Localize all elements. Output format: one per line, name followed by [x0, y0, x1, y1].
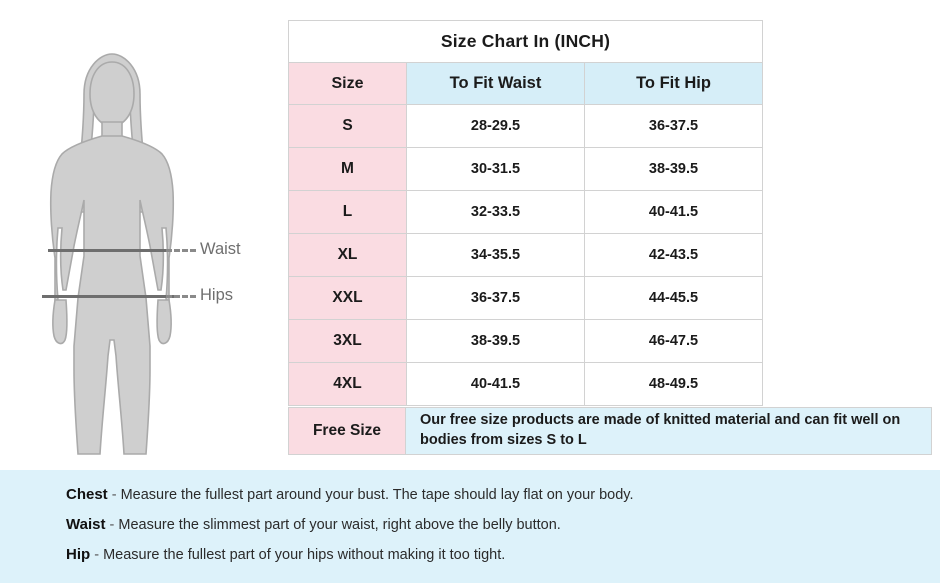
instruction-chest: Chest - Measure the fullest part around … — [66, 486, 940, 503]
instruction-text: Measure the fullest part around your bus… — [121, 487, 634, 503]
cell-hip: 48-49.5 — [585, 363, 763, 406]
table-row: L 32-33.5 40-41.5 — [289, 191, 763, 234]
cell-waist: 34-35.5 — [407, 234, 585, 277]
instruction-separator: - — [109, 517, 114, 533]
hips-label: Hips — [200, 286, 233, 305]
body-figure-panel: Waist Hips — [0, 0, 288, 470]
instruction-waist: Waist - Measure the slimmest part of you… — [66, 516, 940, 533]
cell-hip: 46-47.5 — [585, 320, 763, 363]
cell-hip: 42-43.5 — [585, 234, 763, 277]
cell-hip: 36-37.5 — [585, 105, 763, 148]
cell-size: XL — [289, 234, 407, 277]
cell-waist: 40-41.5 — [407, 363, 585, 406]
page-title: Size Chart In (INCH) — [289, 21, 763, 63]
female-body-silhouette-icon — [22, 50, 202, 460]
table-row: XL 34-35.5 42-43.5 — [289, 234, 763, 277]
cell-waist: 30-31.5 — [407, 148, 585, 191]
free-size-label: Free Size — [288, 407, 406, 455]
hips-leader-line — [166, 295, 196, 298]
table-row: M 30-31.5 38-39.5 — [289, 148, 763, 191]
instruction-term: Waist — [66, 516, 105, 533]
cell-size: XXL — [289, 277, 407, 320]
cell-size: L — [289, 191, 407, 234]
cell-size: M — [289, 148, 407, 191]
size-chart-table: Size Chart In (INCH) Size To Fit Waist T… — [288, 20, 763, 406]
table-row: XXL 36-37.5 44-45.5 — [289, 277, 763, 320]
cell-hip: 44-45.5 — [585, 277, 763, 320]
table-title-row: Size Chart In (INCH) — [289, 21, 763, 63]
cell-waist: 36-37.5 — [407, 277, 585, 320]
instruction-term: Hip — [66, 546, 90, 563]
waist-leader-line — [166, 249, 196, 252]
column-header-size: Size — [289, 63, 407, 105]
column-header-waist: To Fit Waist — [407, 63, 585, 105]
hips-measure-line — [42, 295, 174, 298]
free-size-row: Free Size Our free size products are mad… — [288, 407, 932, 455]
instruction-term: Chest — [66, 486, 108, 503]
cell-waist: 28-29.5 — [407, 105, 585, 148]
table-row: 4XL 40-41.5 48-49.5 — [289, 363, 763, 406]
measurement-instructions-panel: Chest - Measure the fullest part around … — [0, 470, 940, 583]
instruction-text: Measure the fullest part of your hips wi… — [103, 547, 505, 563]
instruction-separator: - — [112, 487, 117, 503]
instruction-hip: Hip - Measure the fullest part of your h… — [66, 546, 940, 563]
table-row: S 28-29.5 36-37.5 — [289, 105, 763, 148]
cell-size: 4XL — [289, 363, 407, 406]
table-header-row: Size To Fit Waist To Fit Hip — [289, 63, 763, 105]
free-size-note: Our free size products are made of knitt… — [406, 407, 932, 455]
cell-waist: 38-39.5 — [407, 320, 585, 363]
column-header-hip: To Fit Hip — [585, 63, 763, 105]
cell-size: S — [289, 105, 407, 148]
instruction-text: Measure the slimmest part of your waist,… — [118, 517, 560, 533]
cell-size: 3XL — [289, 320, 407, 363]
cell-waist: 32-33.5 — [407, 191, 585, 234]
cell-hip: 38-39.5 — [585, 148, 763, 191]
waist-measure-line — [48, 249, 168, 252]
cell-hip: 40-41.5 — [585, 191, 763, 234]
table-row: 3XL 38-39.5 46-47.5 — [289, 320, 763, 363]
waist-label: Waist — [200, 240, 241, 259]
instruction-separator: - — [94, 547, 99, 563]
